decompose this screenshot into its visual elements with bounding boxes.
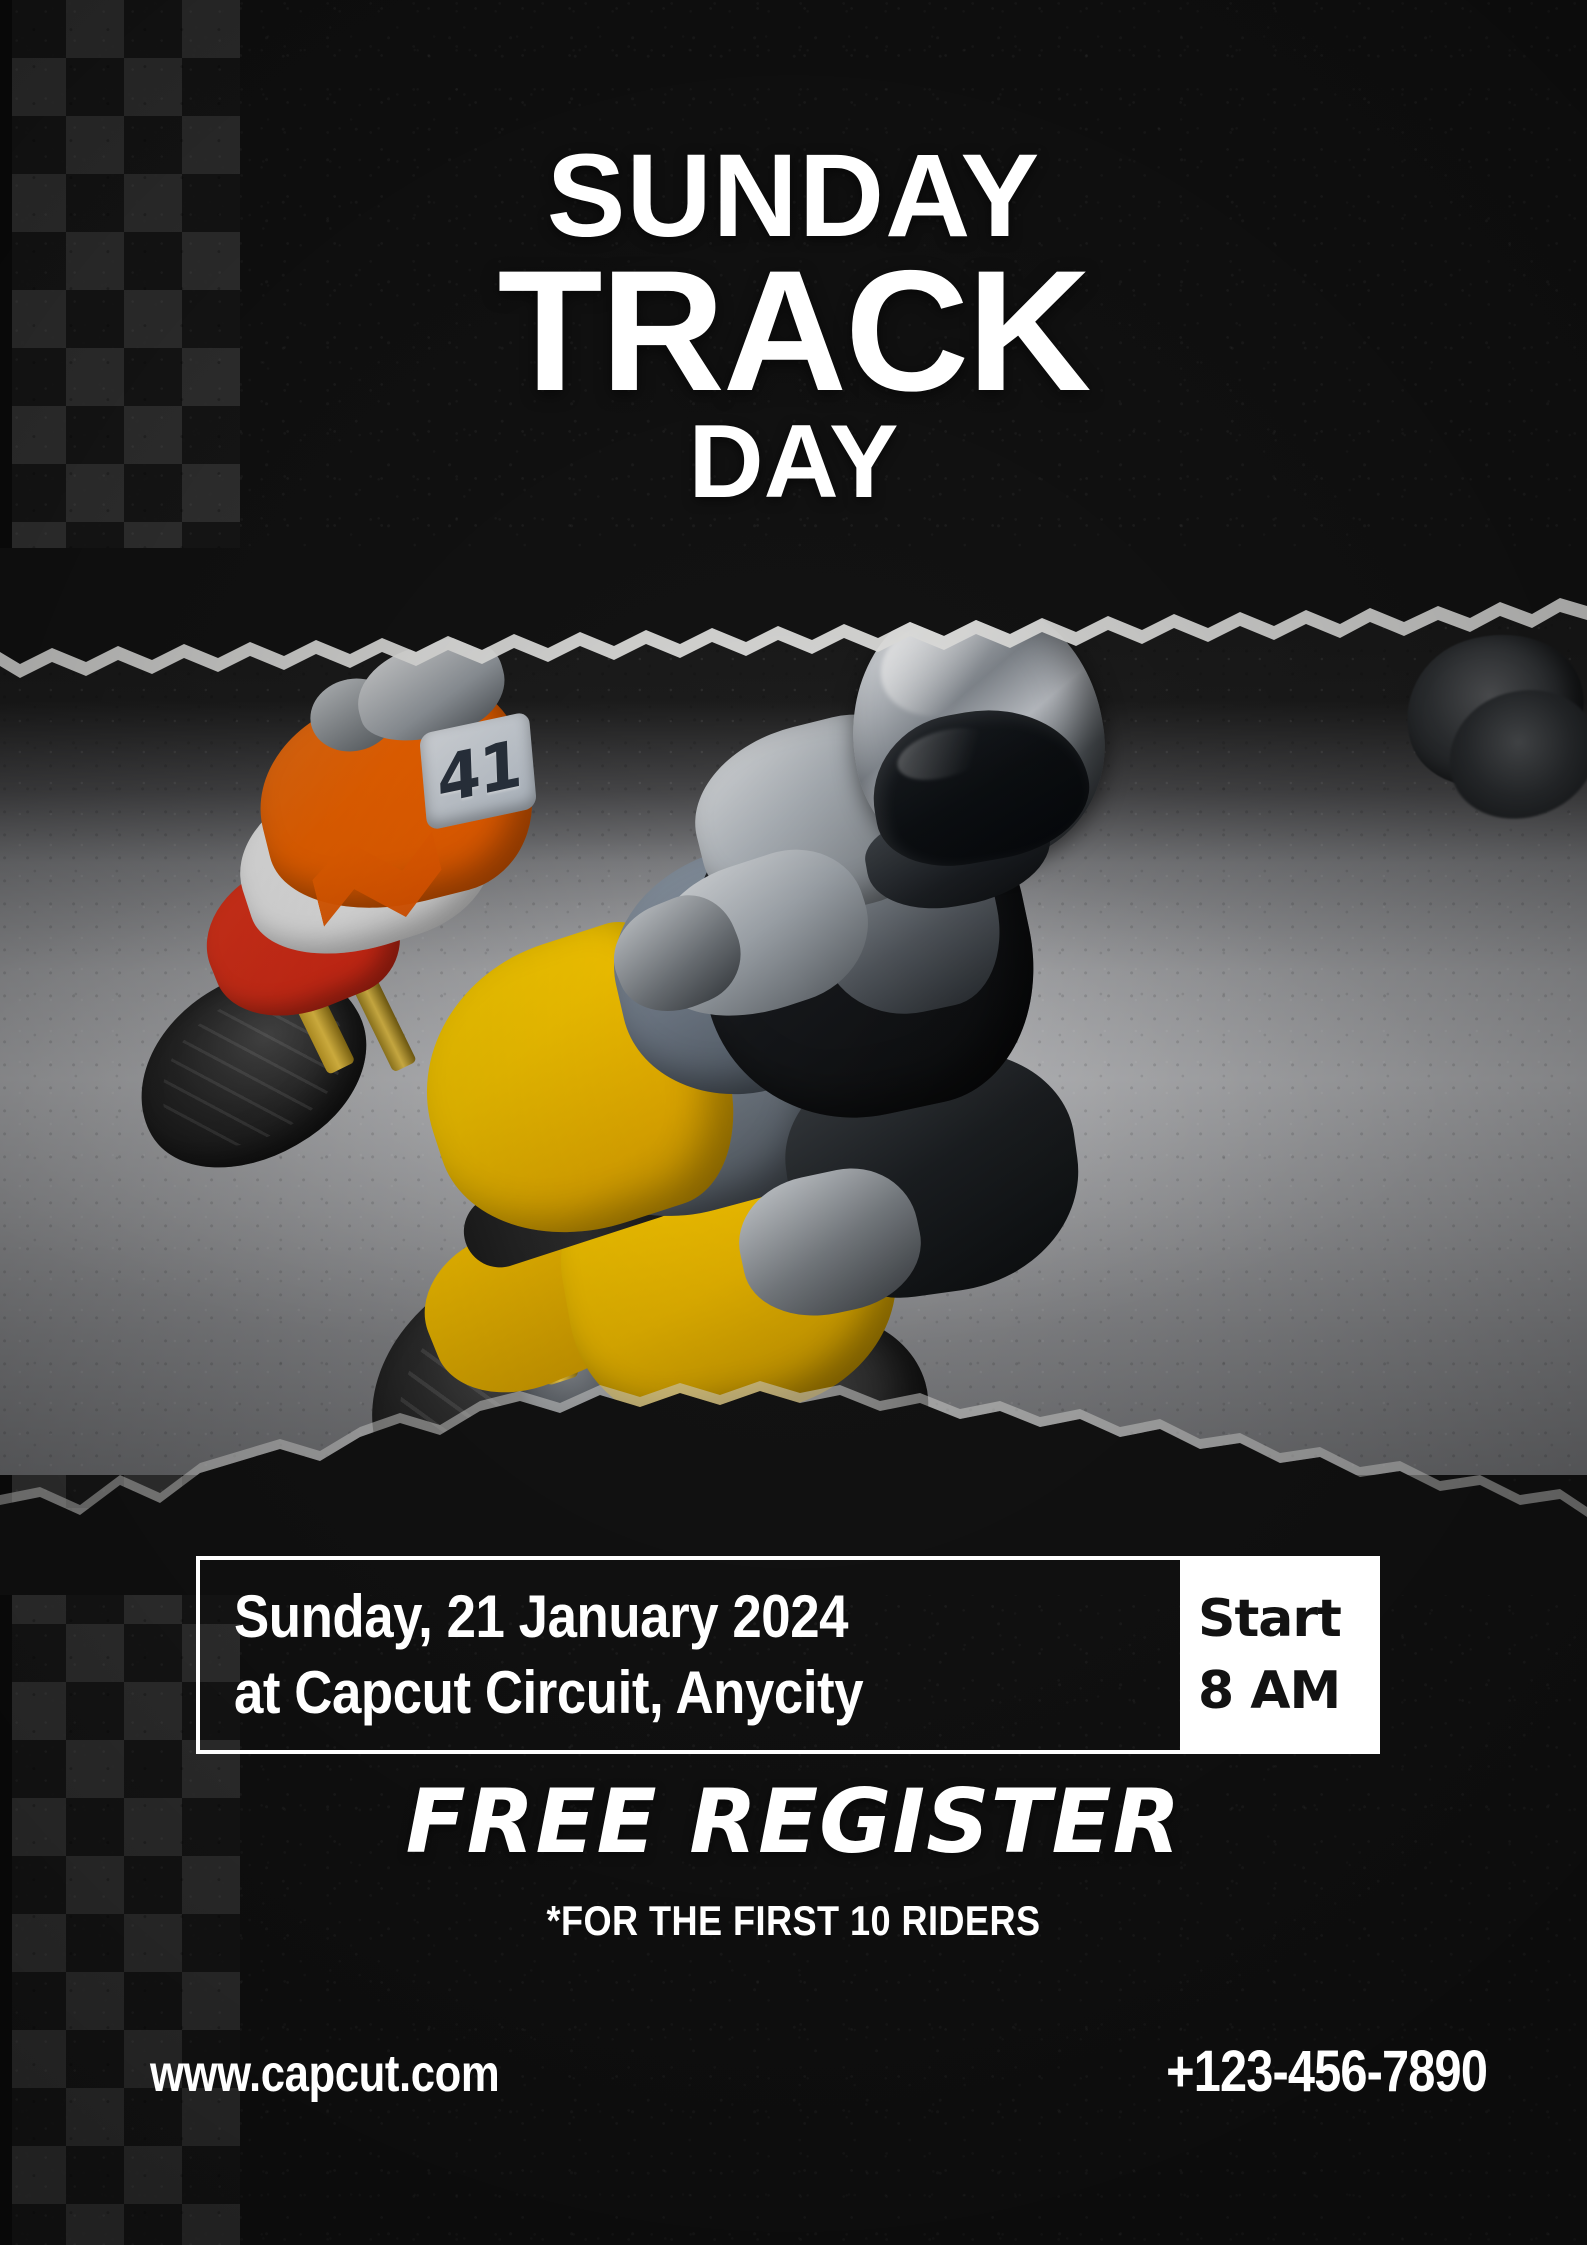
page-title: SUNDAY TRACK DAY (0, 140, 1587, 514)
headline-line-2: TRACK (0, 252, 1587, 410)
headline-line-3: DAY (0, 410, 1587, 514)
free-register-note: *FOR THE FIRST 10 RIDERS (111, 1895, 1476, 1947)
footer-website[interactable]: www.capcut.com (150, 2043, 499, 2105)
start-label: Start (1198, 1583, 1376, 1655)
event-venue: at Capcut Circuit, Anycity (234, 1655, 1066, 1731)
free-register-headline: FREE REGISTER (0, 1772, 1587, 1872)
footer-phone[interactable]: +123-456-7890 (1166, 2038, 1487, 2106)
poster-canvas: 41 89 (0, 0, 1587, 2245)
rider-figure (640, 585, 1200, 1345)
start-time-badge: Start 8 AM (1180, 1560, 1376, 1750)
event-details-text: Sunday, 21 January 2024 at Capcut Circui… (200, 1560, 1180, 1750)
motorcycle-photo: 41 89 (0, 575, 1587, 1475)
event-details-box: Sunday, 21 January 2024 at Capcut Circui… (196, 1556, 1380, 1754)
event-date: Sunday, 21 January 2024 (234, 1579, 1066, 1655)
start-time: 8 AM (1198, 1655, 1376, 1727)
